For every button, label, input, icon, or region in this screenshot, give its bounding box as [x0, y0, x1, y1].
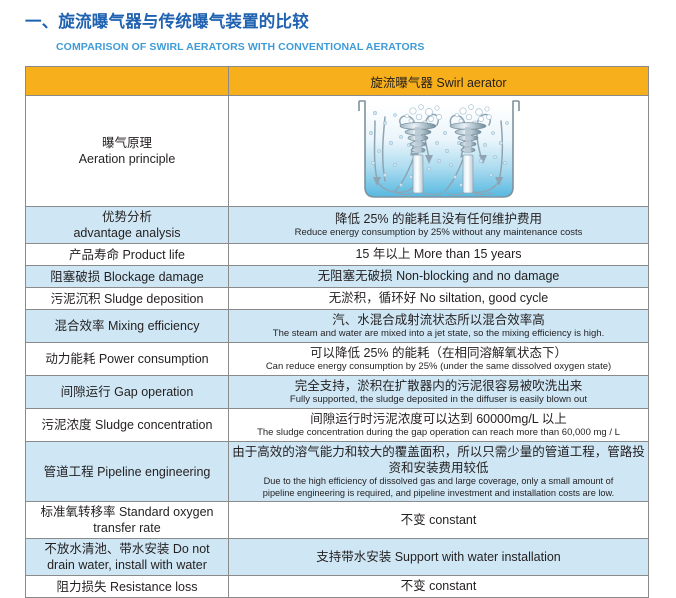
header-cell-swirl-aerator: 旋流曝气器 Swirl aerator	[229, 67, 649, 96]
aerator-image-container	[232, 98, 645, 204]
table-row: 管道工程 Pipeline engineering 由于高效的溶气能力和较大的覆…	[26, 442, 649, 502]
value-cn: 支持带水安装 Support with water installation	[232, 549, 645, 566]
row-value-aeration-diagram	[229, 96, 649, 207]
label-cn: 优势分析	[29, 209, 225, 225]
label-cn: 标准氧转移率 Standard oxygen	[29, 504, 225, 520]
comparison-table: 旋流曝气器 Swirl aerator 曝气原理 Aeration princi…	[25, 66, 649, 598]
row-value-do-not-drain-water: 支持带水安装 Support with water installation	[229, 539, 649, 576]
header-cell-blank	[26, 67, 229, 96]
table-row: 污泥沉积 Sludge deposition 无淤积，循环好 No siltat…	[26, 288, 649, 310]
row-label-power-consumption: 动力能耗 Power consumption	[26, 343, 229, 376]
table-row: 动力能耗 Power consumption 可以降低 25% 的能耗（在相同溶…	[26, 343, 649, 376]
row-label-blockage-damage: 阻塞破损 Blockage damage	[26, 266, 229, 288]
row-value-sludge-concentration: 间隙运行时污泥浓度可以达到 60000mg/L 以上 The sludge co…	[229, 409, 649, 442]
page-root: 一、旋流曝气器与传统曝气装置的比较 COMPARISON OF SWIRL AE…	[0, 0, 676, 587]
value-cn: 间隙运行时污泥浓度可以达到 60000mg/L 以上	[232, 411, 645, 427]
row-value-blockage-damage: 无阻塞无破损 Non-blocking and no damage	[229, 266, 649, 288]
value-en: The sludge concentration during the gap …	[232, 427, 645, 439]
value-cn: 无淤积，循环好 No siltation, good cycle	[232, 290, 645, 307]
swirl-aerator-diagram-icon	[351, 99, 527, 203]
label-cn: 不放水清池、带水安装 Do not	[29, 541, 225, 557]
page-title: 一、旋流曝气器与传统曝气装置的比较	[25, 12, 665, 32]
label-en: drain water, install with water	[29, 557, 225, 573]
value-en: Fully supported, the sludge deposited in…	[232, 394, 645, 406]
value-cn: 由于高效的溶气能力和较大的覆盖面积，所以只需少量的管道工程，管路投资和安装费用较…	[232, 444, 645, 476]
row-label-sludge-concentration: 污泥浓度 Sludge concentration	[26, 409, 229, 442]
value-en: Reduce energy consumption by 25% without…	[232, 227, 645, 239]
table-row: 间隙运行 Gap operation 完全支持，淤积在扩散器内的污泥很容易被吹洗…	[26, 376, 649, 409]
table-row: 不放水清池、带水安装 Do not drain water, install w…	[26, 539, 649, 576]
row-value-standard-oxygen-transfer-rate: 不变 constant	[229, 502, 649, 539]
value-cn: 15 年以上 More than 15 years	[232, 246, 645, 263]
table-row: 曝气原理 Aeration principle	[26, 96, 649, 207]
value-en: The steam and water are mixed into a jet…	[232, 328, 645, 340]
row-label-standard-oxygen-transfer-rate: 标准氧转移率 Standard oxygen transfer rate	[26, 502, 229, 539]
row-label-aeration-principle: 曝气原理 Aeration principle	[26, 96, 229, 207]
label-en: Aeration principle	[29, 151, 225, 167]
page-subtitle: COMPARISON OF SWIRL AERATORS WITH CONVEN…	[56, 40, 665, 54]
value-cn: 降低 25% 的能耗且没有任何维护费用	[232, 211, 645, 227]
row-value-pipeline-engineering: 由于高效的溶气能力和较大的覆盖面积，所以只需少量的管道工程，管路投资和安装费用较…	[229, 442, 649, 502]
table-row: 产品寿命 Product life 15 年以上 More than 15 ye…	[26, 244, 649, 266]
row-value-gap-operation: 完全支持，淤积在扩散器内的污泥很容易被吹洗出来 Fully supported,…	[229, 376, 649, 409]
table-header-row: 旋流曝气器 Swirl aerator	[26, 67, 649, 96]
row-value-sludge-deposition: 无淤积，循环好 No siltation, good cycle	[229, 288, 649, 310]
row-value-mixing-efficiency: 汽、水混合成射流状态所以混合效率高 The steam and water ar…	[229, 310, 649, 343]
value-cn: 完全支持，淤积在扩散器内的污泥很容易被吹洗出来	[232, 378, 645, 394]
row-label-do-not-drain-water: 不放水清池、带水安装 Do not drain water, install w…	[26, 539, 229, 576]
table-row: 阻塞破损 Blockage damage 无阻塞无破损 Non-blocking…	[26, 266, 649, 288]
row-label-pipeline-engineering: 管道工程 Pipeline engineering	[26, 442, 229, 502]
value-cn: 无阻塞无破损 Non-blocking and no damage	[232, 268, 645, 285]
table-row: 混合效率 Mixing efficiency 汽、水混合成射流状态所以混合效率高…	[26, 310, 649, 343]
label-en: advantage analysis	[29, 225, 225, 241]
table-row: 标准氧转移率 Standard oxygen transfer rate 不变 …	[26, 502, 649, 539]
table-row: 优势分析 advantage analysis 降低 25% 的能耗且没有任何维…	[26, 207, 649, 244]
row-label-product-life: 产品寿命 Product life	[26, 244, 229, 266]
value-en: Due to the high efficiency of dissolved …	[232, 476, 645, 488]
row-value-product-life: 15 年以上 More than 15 years	[229, 244, 649, 266]
row-label-sludge-deposition: 污泥沉积 Sludge deposition	[26, 288, 229, 310]
value-cn: 可以降低 25% 的能耗（在相同溶解氧状态下）	[232, 345, 645, 361]
row-label-gap-operation: 间隙运行 Gap operation	[26, 376, 229, 409]
row-label-mixing-efficiency: 混合效率 Mixing efficiency	[26, 310, 229, 343]
row-label-advantage-analysis: 优势分析 advantage analysis	[26, 207, 229, 244]
value-cn: 不变 constant	[232, 512, 645, 529]
label-en: transfer rate	[29, 520, 225, 536]
heading-block: 一、旋流曝气器与传统曝气装置的比较 COMPARISON OF SWIRL AE…	[25, 12, 665, 54]
label-cn: 曝气原理	[29, 135, 225, 151]
table-row: 污泥浓度 Sludge concentration 间隙运行时污泥浓度可以达到 …	[26, 409, 649, 442]
row-value-advantage-analysis: 降低 25% 的能耗且没有任何维护费用 Reduce energy consum…	[229, 207, 649, 244]
row-value-power-consumption: 可以降低 25% 的能耗（在相同溶解氧状态下） Can reduce energ…	[229, 343, 649, 376]
value-cn: 汽、水混合成射流状态所以混合效率高	[232, 312, 645, 328]
value-en: Can reduce energy consumption by 25% (un…	[232, 361, 645, 373]
value-en-line2: pipeline engineering is required, and pi…	[232, 488, 645, 500]
